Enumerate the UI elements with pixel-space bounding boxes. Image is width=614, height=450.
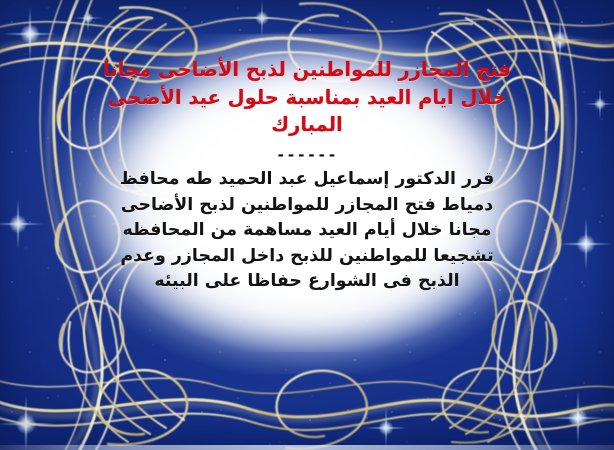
poster-canvas: فتح المجازر للمواطنين لذبح الأضاحى مجانا… — [0, 0, 614, 450]
body-line-3: مجانا خلال أيام العيد مساهمة من المحافظه — [97, 218, 517, 244]
body-line-1: قرر الدكتور إسماعيل عبد الحميد طه محافظ — [97, 167, 517, 193]
bottom-light-strip — [0, 445, 614, 450]
headline-line-1: فتح المجازر للمواطنين لذبح الأضاحى مجانا — [101, 56, 513, 84]
divider-dashes: ------ — [95, 148, 519, 163]
headline: فتح المجازر للمواطنين لذبح الأضاحى مجانا… — [95, 56, 519, 139]
headline-line-2: خلال ايام العيد بمناسبة حلول عيد الأضحى — [101, 84, 513, 112]
announcement-content: فتح المجازر للمواطنين لذبح الأضاحى مجانا… — [95, 56, 519, 356]
body-text: قرر الدكتور إسماعيل عبد الحميد طه محافظ … — [95, 167, 519, 295]
headline-line-3: المبارك — [101, 111, 513, 139]
body-line-2: دمياط فتح المجازر للمواطنين لذبح الأضاحى — [97, 193, 517, 219]
body-line-5: الذبح فى الشوارع حفاظا على البيئه — [97, 269, 517, 295]
body-line-4: تشجيعا للمواطنين للذبح داخل المجازر وعدم — [97, 244, 517, 270]
